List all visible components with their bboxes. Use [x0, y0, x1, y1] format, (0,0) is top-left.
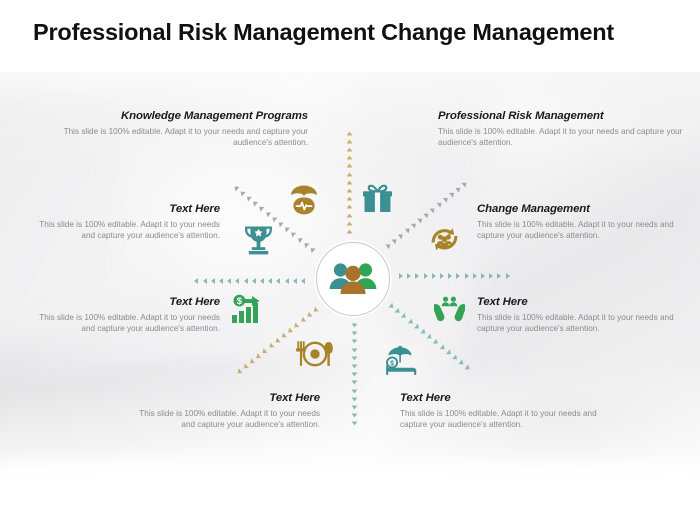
item-text-here-bottom-left[interactable]: Text Here This slide is 100% editable. A…	[125, 392, 320, 431]
svg-text:$: $	[390, 361, 394, 368]
gift-box-icon[interactable]	[362, 183, 393, 214]
item-text-here-bottom-right[interactable]: Text Here This slide is 100% editable. A…	[400, 392, 610, 431]
item-body: This slide is 100% editable. Adapt it to…	[400, 408, 610, 431]
item-heading: Text Here	[477, 296, 687, 308]
bottom-white-strip	[0, 480, 700, 525]
item-text-here-left-lower[interactable]: Text Here This slide is 100% editable. A…	[30, 296, 220, 335]
page-title: Professional Risk Management Change Mana…	[33, 19, 614, 46]
item-heading: Text Here	[30, 203, 220, 215]
item-heading: Text Here	[400, 392, 610, 404]
trophy-icon[interactable]	[244, 224, 273, 256]
item-body: This slide is 100% editable. Adapt it to…	[30, 219, 220, 242]
item-knowledge-management-programs[interactable]: Knowledge Management Programs This slide…	[30, 110, 308, 149]
item-professional-risk-management[interactable]: Professional Risk Management This slide …	[438, 110, 688, 149]
people-group-icon	[328, 257, 378, 302]
svg-text:$: $	[237, 295, 243, 306]
slide-root: Professional Risk Management Change Mana…	[0, 0, 700, 525]
content-layer: Knowledge Management Programs This slide…	[0, 0, 700, 525]
item-heading: Text Here	[30, 296, 220, 308]
item-text-here-right-lower[interactable]: Text Here This slide is 100% editable. A…	[477, 296, 687, 335]
item-body: This slide is 100% editable. Adapt it to…	[438, 126, 688, 149]
item-text-here-left-upper[interactable]: Text Here This slide is 100% editable. A…	[30, 203, 220, 242]
item-body: This slide is 100% editable. Adapt it to…	[30, 312, 220, 335]
plate-fork-knife-icon[interactable]	[294, 341, 336, 367]
growth-chart-dollar-icon[interactable]: $	[230, 294, 261, 324]
item-body: This slide is 100% editable. Adapt it to…	[477, 219, 687, 242]
hands-holding-people-icon[interactable]	[434, 294, 465, 323]
title-bar: Professional Risk Management Change Mana…	[0, 0, 700, 72]
item-heading: Knowledge Management Programs	[30, 110, 308, 122]
beach-umbrella-savings-icon[interactable]: $	[384, 345, 418, 375]
item-body: This slide is 100% editable. Adapt it to…	[477, 312, 687, 335]
item-heading: Change Management	[477, 203, 687, 215]
center-hub[interactable]	[316, 242, 390, 316]
item-heading: Text Here	[125, 392, 320, 404]
item-body: This slide is 100% editable. Adapt it to…	[125, 408, 320, 431]
item-body: This slide is 100% editable. Adapt it to…	[30, 126, 308, 149]
item-change-management[interactable]: Change Management This slide is 100% edi…	[477, 203, 687, 242]
umbrella-heart-icon[interactable]	[288, 182, 320, 215]
item-heading: Professional Risk Management	[438, 110, 688, 122]
change-cycle-people-icon[interactable]	[428, 224, 461, 255]
